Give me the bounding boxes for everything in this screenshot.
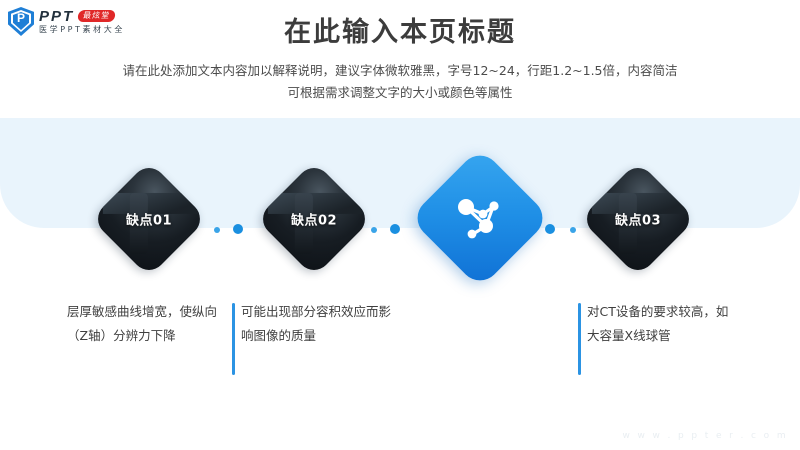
connector-dot-1b (233, 224, 243, 234)
slide-canvas: P PPT 最炫堂 医学PPT素材大全 在此输入本页标题 请在此处添加文本内容加… (0, 0, 800, 450)
microscope-photo-1 (91, 161, 207, 277)
accent-diamond (409, 147, 550, 288)
column-text-2: 可能出现部分容积效应而影响图像的质量 (241, 300, 391, 348)
share-network-icon (453, 193, 507, 243)
subtitle-line-1: 请在此处添加文本内容加以解释说明，建议字体微软雅黑，字号12~24，行距1.2~… (0, 60, 800, 82)
accent-bar-2 (232, 303, 235, 375)
text-column-2: 可能出现部分容积效应而影响图像的质量 (232, 300, 391, 348)
column-text-1: 层厚敏感曲线增宽，使纵向（Z轴）分辨力下降 (67, 300, 217, 348)
shield-letter: P (8, 11, 34, 25)
brand-name: PPT (39, 9, 74, 24)
node-row: 缺点01 缺点02 (0, 168, 800, 292)
brand-text: PPT 最炫堂 医学PPT素材大全 (39, 9, 125, 35)
column-text-3: 对CT设备的要求较高，如大容量X线球管 (587, 300, 737, 348)
microscope-photo-2 (256, 161, 372, 277)
node-item-2[interactable]: 缺点02 (273, 178, 355, 260)
shield-icon: P (8, 7, 34, 36)
node-item-1[interactable]: 缺点01 (108, 178, 190, 260)
subtitle-line-2: 可根据需求调整文字的大小或颜色等属性 (0, 82, 800, 104)
page-subtitle: 请在此处添加文本内容加以解释说明，建议字体微软雅黑，字号12~24，行距1.2~… (0, 60, 800, 104)
connector-dot-3b (570, 227, 576, 233)
text-column-1: 层厚敏感曲线增宽，使纵向（Z轴）分辨力下降 (58, 300, 217, 348)
microscope-photo-3 (580, 161, 696, 277)
brand-badge: 最炫堂 (77, 10, 116, 22)
node-item-3[interactable]: 缺点03 (597, 178, 679, 260)
connector-dot-3a (545, 224, 555, 234)
node-item-accent[interactable] (430, 168, 530, 268)
brand-logo[interactable]: P PPT 最炫堂 医学PPT素材大全 (8, 7, 125, 36)
accent-bar-3 (578, 303, 581, 375)
connector-dot-2a (371, 227, 377, 233)
connector-dot-2b (390, 224, 400, 234)
connector-dot-1a (214, 227, 220, 233)
footer-watermark: w w w . p p t e r . c o m (622, 431, 788, 441)
text-column-3: 对CT设备的要求较高，如大容量X线球管 (578, 300, 737, 348)
brand-tagline: 医学PPT素材大全 (39, 25, 125, 35)
